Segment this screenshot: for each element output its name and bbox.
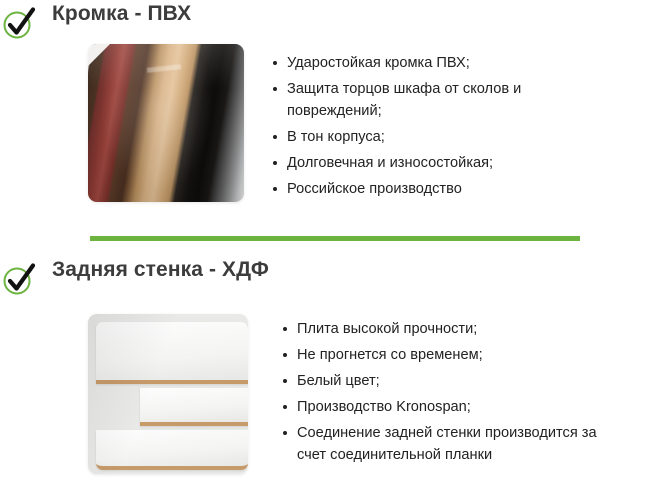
list-item: Российское производство [272,178,592,200]
feature-list-edge: Ударостойкая кромка ПВХ; Защита торцов ш… [272,52,592,204]
section-heading-edge: Кромка - ПВХ [0,0,652,44]
section-body-edge: Ударостойкая кромка ПВХ; Защита торцов ш… [0,44,652,212]
feature-list-back: Плита высокой прочности; Не прогнется со… [282,318,602,470]
product-features-page: Кромка - ПВХ Ударостойкая кромка ПВХ; За… [0,0,652,500]
page-title-back: Задняя стенка - ХДФ [52,258,269,282]
product-image-edge-banding [88,44,244,202]
list-item: В тон корпуса; [272,126,592,148]
hdf-board-top [96,322,248,384]
check-circle-icon [0,4,40,42]
page-title-edge: Кромка - ПВХ [52,2,191,26]
hdf-board-bottom [96,430,248,470]
product-image-hdf-board [88,314,248,474]
check-circle-icon [0,260,40,298]
section-heading-back: Задняя стенка - ХДФ [0,256,652,300]
list-item: Белый цвет; [282,370,602,392]
section-edge-banding: Кромка - ПВХ Ударостойкая кромка ПВХ; За… [0,0,652,212]
list-item: Долговечная и износостойкая; [272,152,592,174]
list-item: Плита высокой прочности; [282,318,602,340]
list-item: Не прогнется со временем; [282,344,602,366]
list-item: Защита торцов шкафа от сколов и поврежде… [272,78,592,122]
list-item: Соединение задней стенки производится за… [282,422,602,466]
section-back-panel: Задняя стенка - ХДФ Плита высокой прочно… [0,240,652,480]
hdf-board-middle [140,388,248,426]
list-item: Ударостойкая кромка ПВХ; [272,52,592,74]
section-body-back: Плита высокой прочности; Не прогнется со… [0,300,652,480]
list-item: Производство Kronospan; [282,396,602,418]
